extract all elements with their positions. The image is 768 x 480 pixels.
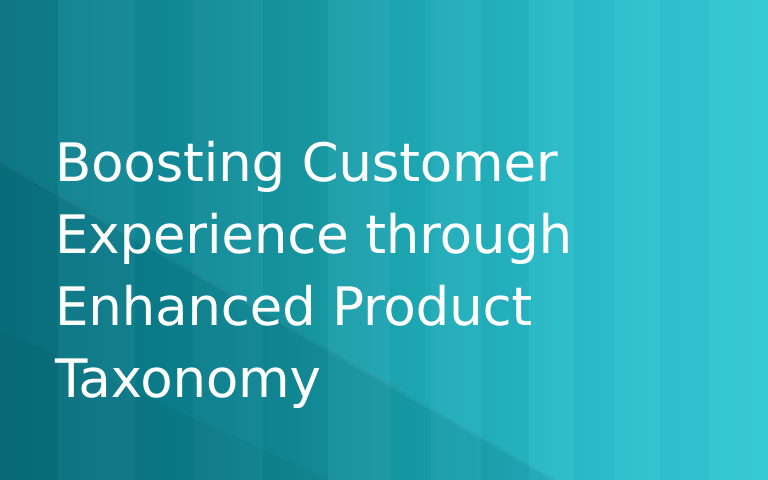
title-slide: Boosting Customer Experience through Enh… xyxy=(0,0,768,480)
background-band-1 xyxy=(0,0,58,480)
background-band-13 xyxy=(660,0,710,480)
page-title: Boosting Customer Experience through Enh… xyxy=(55,128,655,416)
background-band-14 xyxy=(710,0,768,480)
title-block: Boosting Customer Experience through Enh… xyxy=(55,128,655,416)
